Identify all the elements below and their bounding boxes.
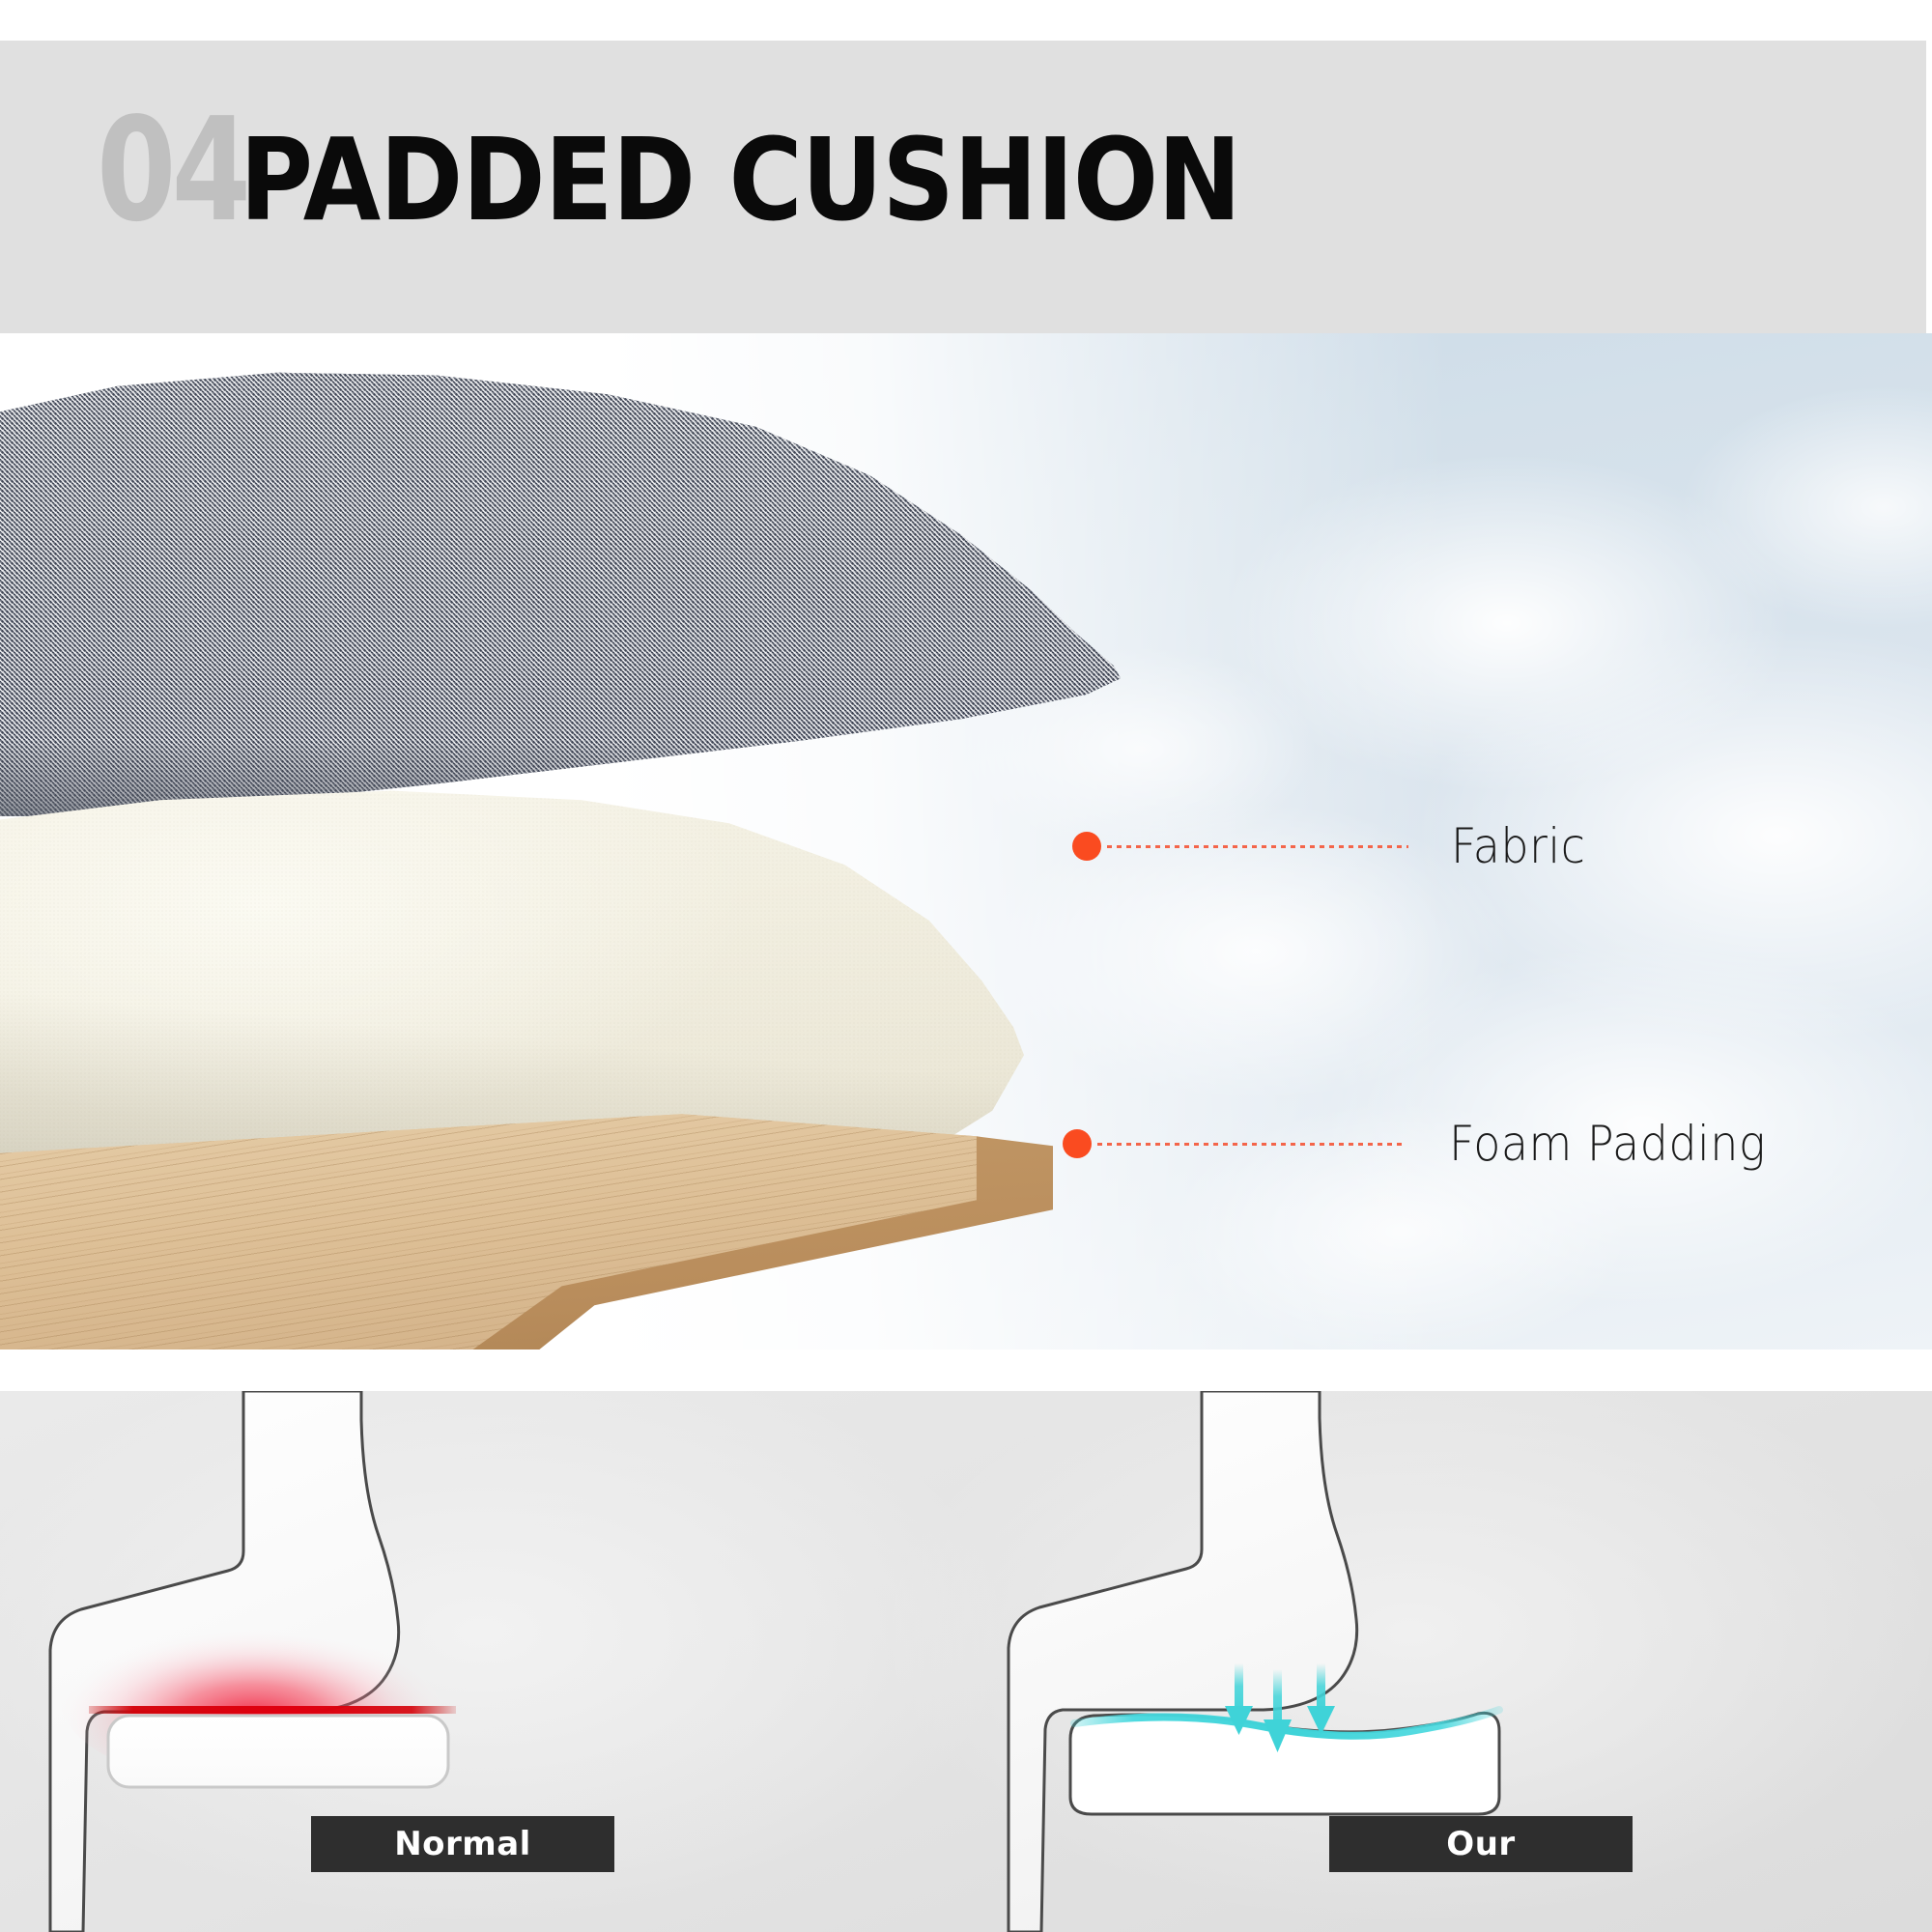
callout-dot-icon <box>1072 832 1101 861</box>
comparison-panel-our: Our <box>966 1391 1932 1932</box>
header-band: 04 PADDED CUSHION <box>0 41 1926 333</box>
body-silhouette <box>1009 1391 1357 1932</box>
cushion-block-normal <box>108 1716 448 1787</box>
step-number: 04 <box>97 104 246 236</box>
fabric-edge-shadow <box>0 333 1121 816</box>
callout-dot-icon <box>1063 1129 1092 1158</box>
callout-fabric: Fabric <box>1072 818 1598 874</box>
comparison-section: Normal <box>0 1391 1932 1932</box>
callout-foam-padding: Foam Padding <box>1063 1116 1793 1172</box>
comparison-panel-normal: Normal <box>0 1391 966 1932</box>
badge-our: Our <box>1329 1816 1633 1872</box>
hard-surface-line <box>89 1706 456 1714</box>
page-title: PADDED CUSHION <box>240 123 1240 237</box>
badge-normal: Normal <box>311 1816 614 1872</box>
fabric-layer <box>0 333 1121 816</box>
exploded-view-section: Fabric Foam Padding Stable Plank <box>0 333 1932 1350</box>
infographic-page: 04 PADDED CUSHION Fabric <box>0 0 1932 1932</box>
header-inner: 04 PADDED CUSHION <box>97 104 1378 237</box>
plank-layer <box>0 1101 1053 1350</box>
callout-label-foam-padding: Foam Padding <box>1449 1116 1766 1172</box>
callout-label-fabric: Fabric <box>1451 818 1585 874</box>
leader-line <box>1097 1143 1406 1146</box>
leader-line <box>1107 845 1408 848</box>
